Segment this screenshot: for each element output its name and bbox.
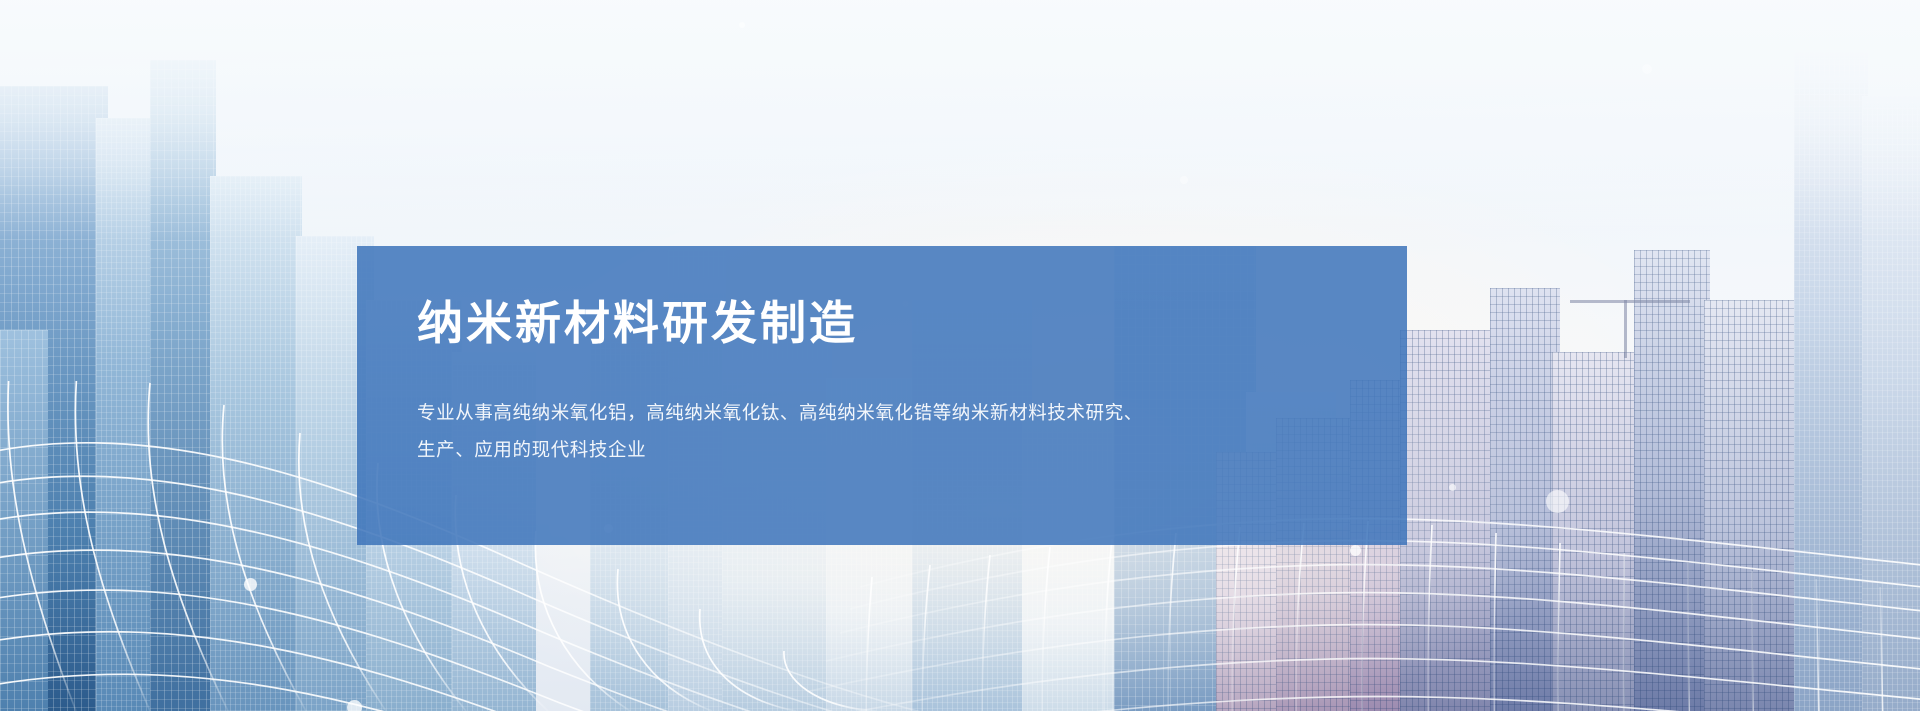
building	[1552, 352, 1640, 711]
hero-subtitle-line-2: 生产、应用的现代科技企业	[417, 439, 646, 460]
building	[0, 330, 48, 711]
construction-crane-mast	[1624, 300, 1627, 358]
building	[1862, 96, 1920, 711]
building	[150, 60, 216, 711]
hero-banner: 纳米新材料研发制造 专业从事高纯纳米氧化铝，高纯纳米氧化钛、高纯纳米氧化锆等纳米…	[0, 0, 1920, 711]
building	[1634, 250, 1710, 711]
building	[1794, 52, 1868, 711]
hero-subtitle: 专业从事高纯纳米氧化铝，高纯纳米氧化钛、高纯纳米氧化锆等纳米新材料技术研究、 生…	[417, 394, 1347, 468]
building	[1490, 288, 1560, 711]
hero-text-panel: 纳米新材料研发制造 专业从事高纯纳米氧化铝，高纯纳米氧化钛、高纯纳米氧化锆等纳米…	[357, 246, 1407, 545]
building	[210, 176, 302, 711]
construction-crane	[1570, 300, 1690, 303]
building	[1400, 330, 1496, 711]
page-title: 纳米新材料研发制造	[417, 298, 1347, 350]
building	[1704, 300, 1800, 711]
hero-subtitle-line-1: 专业从事高纯纳米氧化铝，高纯纳米氧化钛、高纯纳米氧化锆等纳米新材料技术研究、	[417, 402, 1143, 423]
building	[96, 118, 156, 711]
